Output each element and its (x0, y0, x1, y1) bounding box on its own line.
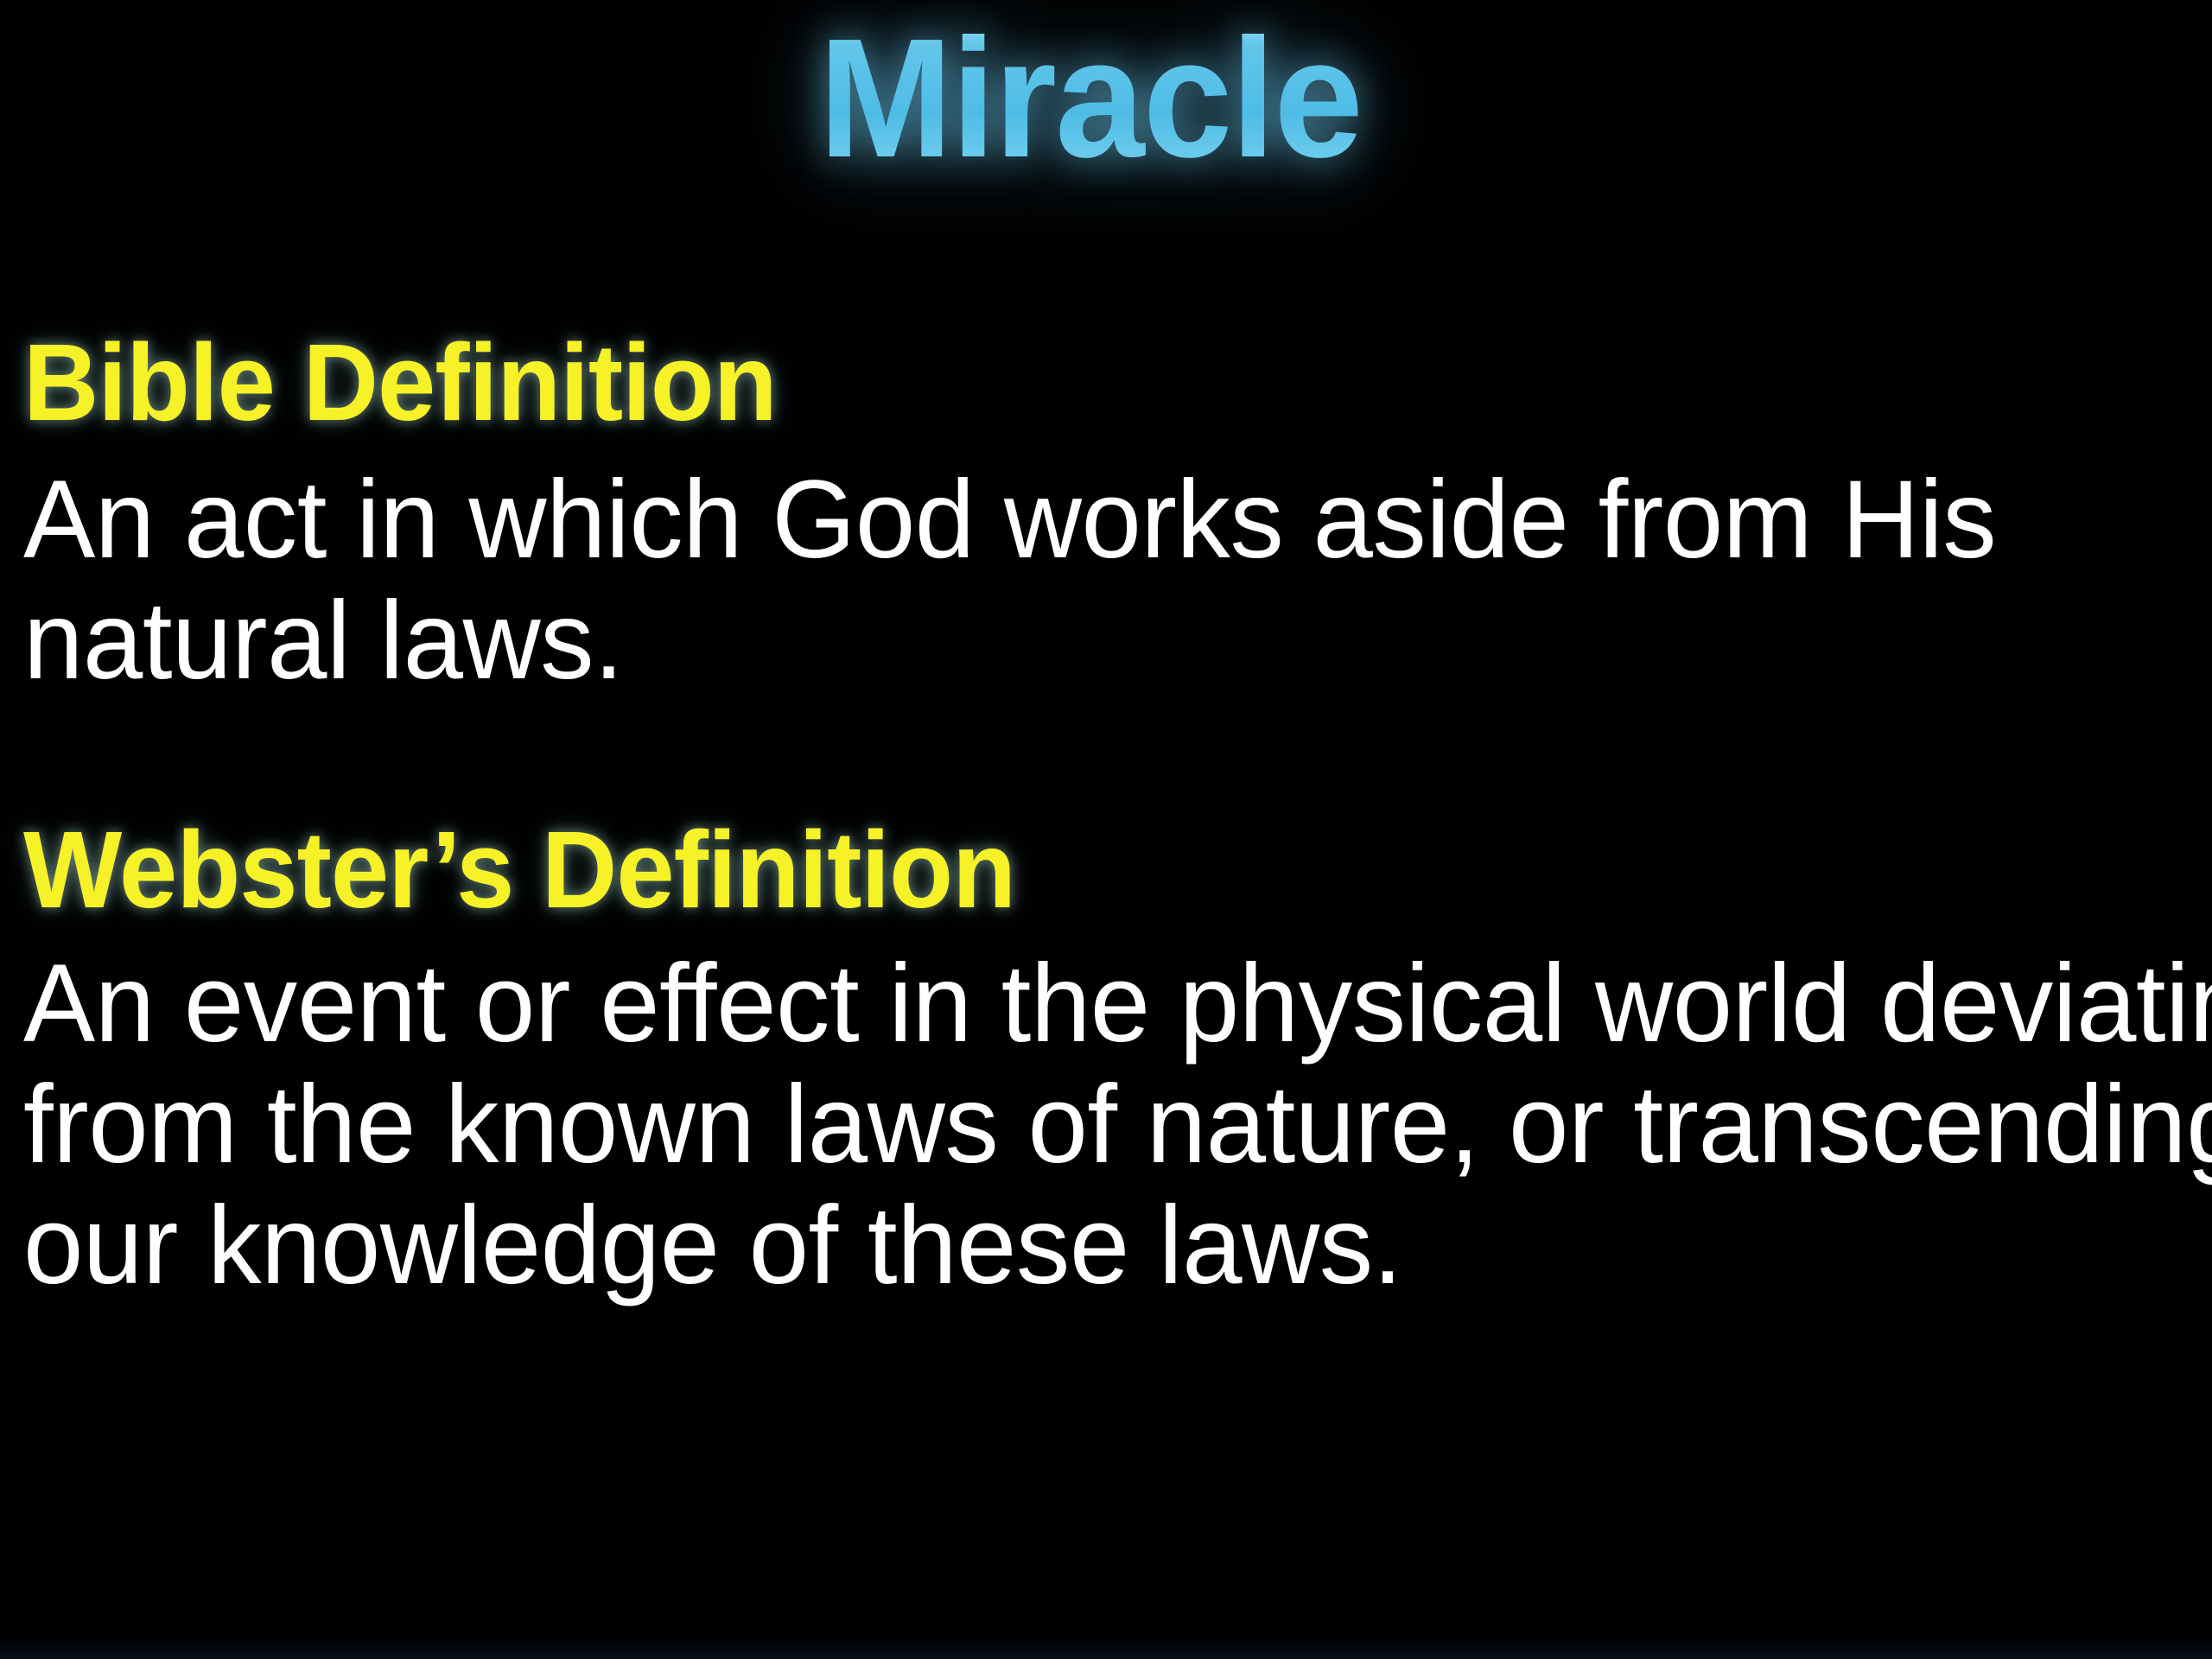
webster-definition-line-3: our knowledge of these laws. (23, 1185, 2104, 1306)
webster-definition-line-2: from the known laws of nature, or transc… (23, 1065, 2104, 1185)
webster-definition-line-1: An event or effect in the physical world… (23, 944, 2104, 1065)
bible-definition-section: Bible Definition An act in which God wor… (23, 328, 2183, 702)
bible-definition-heading: Bible Definition (23, 328, 2097, 437)
bible-definition-text: An act in which God works aside from His… (23, 460, 2104, 702)
webster-definition-section: Webster’s Definition An event or effect … (23, 816, 2183, 1306)
webster-definition-text: An event or effect in the physical world… (23, 944, 2104, 1306)
page-title: Miracle (819, 7, 1362, 190)
webster-definition-heading: Webster’s Definition (23, 816, 2097, 925)
presentation-slide: Miracle Bible Definition An act in which… (0, 0, 2212, 1659)
bible-definition-line-1: An act in which God works aside from His (23, 460, 2104, 581)
bible-definition-line-2: natural laws. (23, 581, 2104, 702)
slide-title-container: Miracle (0, 7, 2212, 190)
slide-content: Bible Definition An act in which God wor… (23, 328, 2183, 1306)
